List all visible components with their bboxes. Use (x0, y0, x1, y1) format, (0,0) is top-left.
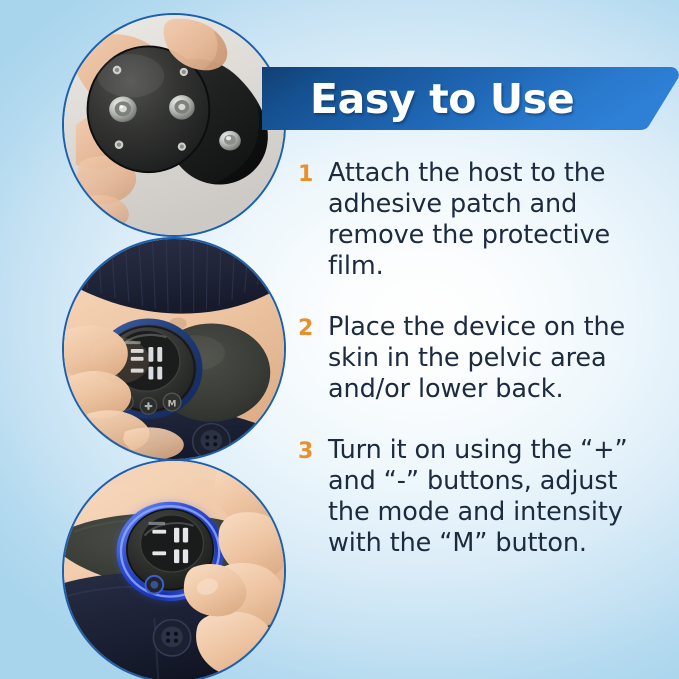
photo-step-2: M (62, 237, 286, 461)
header-banner: Easy to Use (262, 64, 679, 136)
banner-title: Easy to Use (310, 75, 574, 123)
step-item-1: 1 Attach the host to the adhesive patch … (298, 158, 666, 282)
step-number-1: 1 (298, 158, 328, 190)
infographic-poster: M (0, 0, 679, 679)
svg-text:M: M (168, 399, 177, 409)
step-item-2: 2 Place the device on the skin in the pe… (298, 312, 666, 405)
steps-list: 1 Attach the host to the adhesive patch … (298, 158, 666, 559)
step-text-2: Place the device on the skin in the pelv… (328, 312, 666, 405)
step-item-3: 3 Turn it on using the “+” and “-” butto… (298, 435, 666, 559)
photo-step-3 (62, 459, 286, 679)
step-number-2: 2 (298, 312, 328, 344)
step-text-1: Attach the host to the adhesive patch an… (328, 158, 666, 282)
step-number-3: 3 (298, 435, 328, 467)
photo-step-1 (62, 13, 286, 237)
step-text-3: Turn it on using the “+” and “-” buttons… (328, 435, 666, 559)
